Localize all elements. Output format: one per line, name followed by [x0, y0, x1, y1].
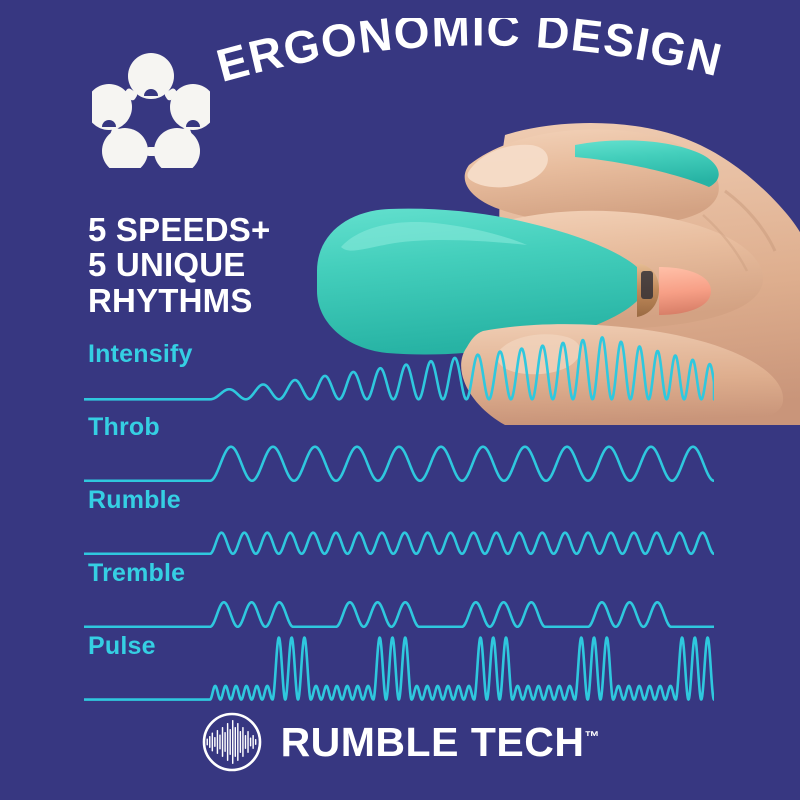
waveform-intensify: [84, 322, 714, 414]
waveform-throb: [84, 435, 714, 487]
brand-wordmark: RUMBLE TECH™: [281, 719, 600, 766]
svg-text:ERGONOMIC DESIGN: ERGONOMIC DESIGN: [211, 18, 728, 92]
trademark-symbol: ™: [584, 728, 599, 745]
waveform-pulse: [84, 614, 714, 706]
brand-name: RUMBLE TECH: [281, 719, 585, 765]
pentagon-five-circles-icon: [92, 52, 210, 168]
brand-footer: RUMBLE TECH™: [0, 706, 800, 778]
rhythm-row-intensify: Intensify: [0, 340, 800, 413]
page-title-text: ERGONOMIC DESIGN: [211, 18, 728, 92]
rhythm-row-pulse: Pulse: [0, 632, 800, 705]
infographic-poster: ERGONOMIC DESIGN 5 SPEEDS+ 5 UNIQUE RHYT…: [0, 0, 800, 800]
rhythm-row-throb: Throb: [0, 413, 800, 486]
rhythm-list: Intensify Throb Rumble Tremble Pulse: [0, 340, 800, 705]
rhythm-row-rumble: Rumble: [0, 486, 800, 559]
audio-waveform-circle-icon: [201, 711, 263, 773]
waveform-rumble: [84, 508, 714, 560]
